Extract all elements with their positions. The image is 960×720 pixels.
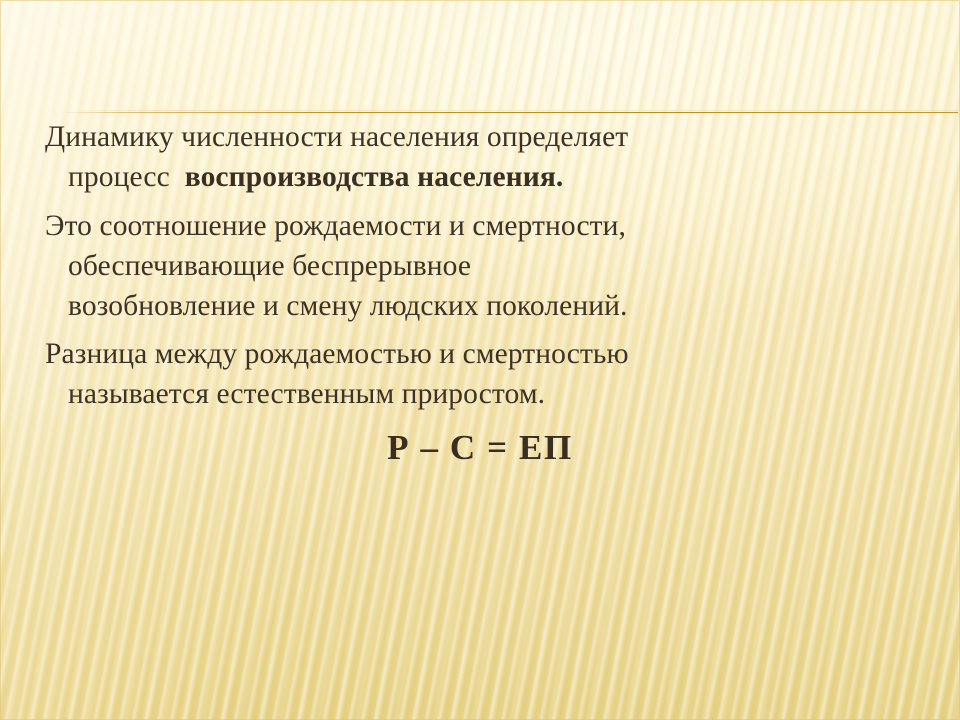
paragraph-3-line-2: называется естественным приростом. (45, 375, 890, 415)
paragraph-2: Это соотношение рождаемости и смертности… (0, 207, 960, 327)
paragraph-2-line-2: обеспечивающие беспрерывное (45, 247, 890, 287)
formula-line: Р – С = ЕП (0, 427, 960, 469)
paragraph-2-line-3: возобновление и смену людских поколений. (45, 287, 890, 327)
paragraph-1: Динамику численности населения определяе… (0, 118, 960, 198)
paragraph-1-line-2-plain: процесс (68, 161, 185, 193)
paragraph-2-line-1: Это соотношение рождаемости и смертности… (45, 207, 890, 247)
divider-light-line (60, 110, 958, 111)
horizontal-rule-divider (60, 110, 958, 113)
paragraph-1-line-1: Динамику численности населения определяе… (45, 118, 890, 158)
paragraph-3-line-1: Разница между рождаемостью и смертностью (45, 335, 890, 375)
presentation-slide: Динамику численности населения определяе… (0, 0, 960, 720)
divider-gold-line (60, 112, 958, 113)
slide-body: Динамику численности населения определяе… (0, 118, 960, 469)
paragraph-1-line-2: процесс воспроизводства населения. (45, 158, 890, 198)
paragraph-3: Разница между рождаемостью и смертностью… (0, 335, 960, 415)
paragraph-1-emphasis: воспроизводства населения. (185, 161, 564, 193)
